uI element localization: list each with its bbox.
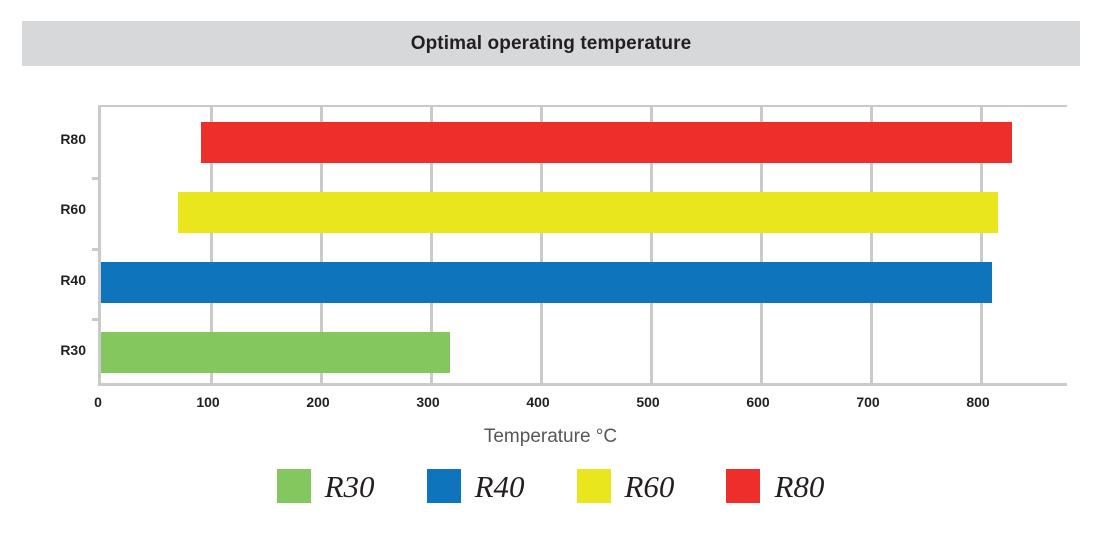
legend-label-r60: R60	[625, 471, 675, 502]
y-axis-label-r40: R40	[16, 272, 86, 288]
y-axis-tick	[92, 177, 99, 180]
x-tick-label-700: 700	[838, 394, 898, 410]
x-tick-label-400: 400	[508, 394, 568, 410]
chart-title-band: Optimal operating temperature	[22, 21, 1080, 66]
legend-item-r60[interactable]: R60	[577, 469, 675, 503]
legend-swatch-r60	[577, 469, 611, 503]
y-axis-tick	[92, 248, 99, 251]
bar-r40[interactable]	[101, 262, 992, 303]
bar-r80[interactable]	[201, 122, 1012, 163]
x-tick-label-200: 200	[288, 394, 348, 410]
y-axis-label-r30: R30	[16, 342, 86, 358]
plot-area	[98, 105, 1067, 386]
x-tick-label-600: 600	[728, 394, 788, 410]
legend-label-r40: R40	[475, 471, 525, 502]
legend-item-r40[interactable]: R40	[427, 469, 525, 503]
legend-item-r80[interactable]: R80	[726, 469, 824, 503]
y-axis-tick	[92, 318, 99, 321]
y-axis-label-r60: R60	[16, 201, 86, 217]
x-tick-label-300: 300	[398, 394, 458, 410]
legend-swatch-r30	[277, 469, 311, 503]
x-tick-label-800: 800	[948, 394, 1008, 410]
legend-swatch-r80	[726, 469, 760, 503]
legend-item-r30[interactable]: R30	[277, 469, 375, 503]
x-tick-label-100: 100	[178, 394, 238, 410]
y-axis-label-r80: R80	[16, 131, 86, 147]
legend-label-r80: R80	[774, 471, 824, 502]
legend-label-r30: R30	[325, 471, 375, 502]
page-title: Optimal operating temperature	[411, 33, 692, 55]
x-tick-label-500: 500	[618, 394, 678, 410]
chart-legend: R30R40R60R80	[0, 469, 1101, 503]
x-axis-title: Temperature °C	[0, 426, 1101, 448]
bar-r30[interactable]	[101, 332, 450, 373]
legend-swatch-r40	[427, 469, 461, 503]
bar-r60[interactable]	[178, 192, 998, 233]
bar-chart: R80R60R40R30 0100200300400500600700800 T…	[0, 66, 1101, 536]
x-tick-label-0: 0	[68, 394, 128, 410]
